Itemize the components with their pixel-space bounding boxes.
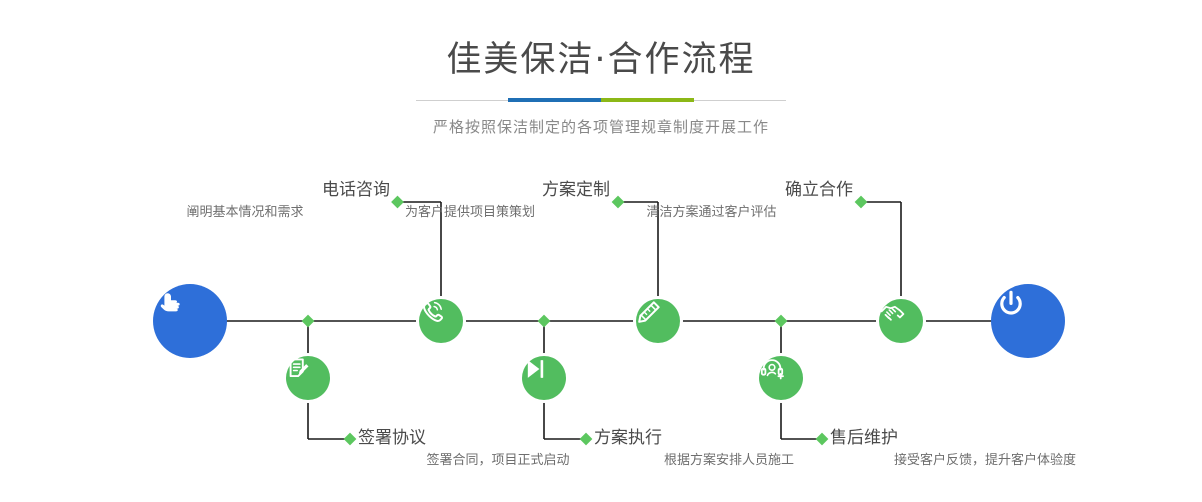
step-icon-5[interactable] — [879, 299, 923, 343]
step-label-6: 售后维护 接受客户反馈，提升客户体验度 — [830, 428, 1140, 470]
pencil-ruler-icon — [636, 299, 662, 325]
step-desc-6: 接受客户反馈，提升客户体验度 — [830, 451, 1140, 470]
diamond-step-5-label — [855, 196, 868, 209]
step-desc-5: 清洁方案通过客户评估 — [570, 203, 853, 222]
step-label-5: 确立合作 清洁方案通过客户评估 — [570, 180, 853, 222]
pointing-hand-icon — [153, 284, 193, 324]
step-desc-3: 为客户提供项目策策划 — [330, 203, 610, 222]
divider-segment-green — [601, 98, 694, 102]
step-icon-1[interactable] — [419, 299, 463, 343]
step-title-4: 方案执行 — [594, 428, 864, 448]
process-flow-page: 佳美保洁·合作流程 严格按照保洁制定的各项管理规章制度开展工作 — [0, 0, 1202, 502]
step-title-6: 售后维护 — [830, 428, 1140, 448]
step-title-5: 确立合作 — [570, 180, 853, 200]
step-icon-2[interactable] — [286, 356, 330, 400]
power-icon — [991, 284, 1031, 324]
flow-start-node[interactable] — [153, 284, 227, 358]
step-title-3: 方案定制 — [330, 180, 610, 200]
diamond-step-6-axis — [775, 315, 788, 328]
step-desc-4: 根据方案安排人员施工 — [594, 451, 864, 470]
step-icon-4[interactable] — [522, 356, 566, 400]
page-title: 佳美保洁·合作流程 — [0, 40, 1202, 80]
step-icon-3[interactable] — [636, 299, 680, 343]
step-label-3: 方案定制 为客户提供项目策策划 — [330, 180, 610, 222]
step-icon-6[interactable] — [759, 356, 803, 400]
customer-service-add-icon — [759, 356, 785, 382]
step-label-4: 方案执行 根据方案安排人员施工 — [594, 428, 864, 470]
divider-segment-blue — [508, 98, 601, 102]
page-subtitle: 严格按照保洁制定的各项管理规章制度开展工作 — [0, 116, 1202, 137]
play-skip-icon — [522, 356, 548, 382]
page-header: 佳美保洁·合作流程 严格按照保洁制定的各项管理规章制度开展工作 — [0, 0, 1202, 137]
phone-call-icon — [419, 299, 445, 325]
process-flow-diagram: 电话咨询 阐明基本情况和需求 方案定制 为客户提供项目策策划 确立合作 清洁方案… — [0, 150, 1202, 502]
diamond-step-2-label — [344, 433, 357, 446]
flow-end-node[interactable] — [991, 284, 1065, 358]
document-edit-icon — [286, 356, 312, 382]
title-divider — [416, 98, 786, 104]
handshake-icon — [879, 299, 907, 327]
diamond-step-4-axis — [538, 315, 551, 328]
diamond-step-2-axis — [302, 315, 315, 328]
